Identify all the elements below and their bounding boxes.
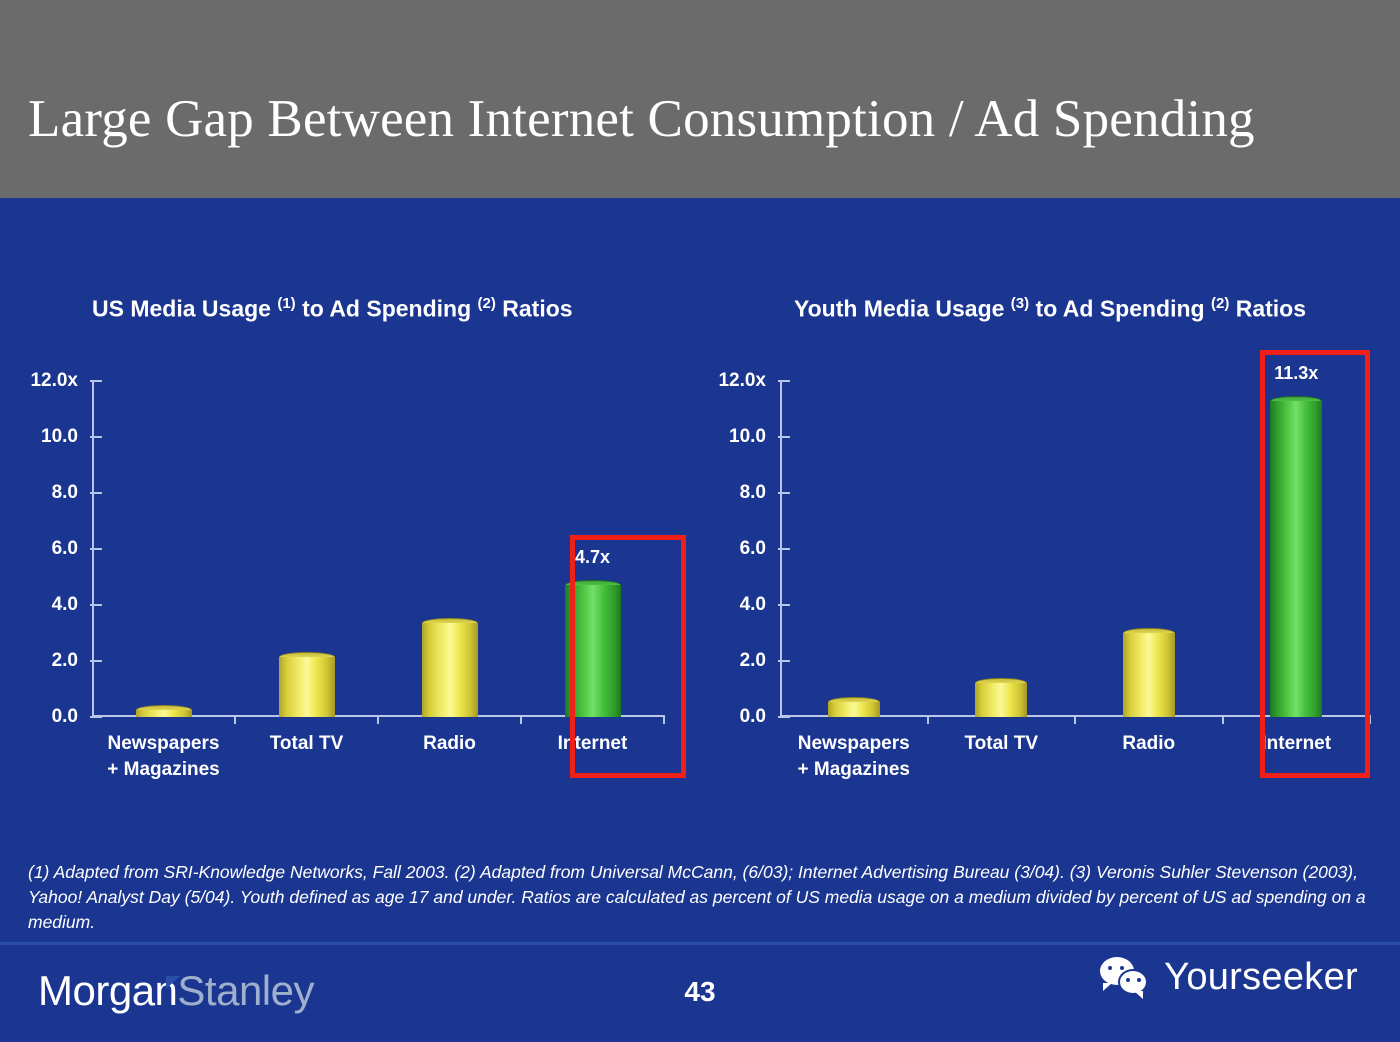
slide-body: US Media Usage (1) to Ad Spending (2) Ra… — [0, 198, 1400, 1042]
y-axis-tick — [778, 604, 790, 606]
slide-header: Large Gap Between Internet Consumption /… — [0, 0, 1400, 198]
chart-title-left: US Media Usage (1) to Ad Spending (2) Ra… — [92, 286, 672, 327]
slide: Large Gap Between Internet Consumption /… — [0, 0, 1400, 1042]
x-axis-category-label: Newspapers+ Magazines — [107, 731, 219, 783]
bar-radio — [422, 618, 478, 717]
bar-newspapers-magazines — [136, 705, 192, 717]
highlight-box-left — [570, 535, 686, 778]
y-axis-label: 6.0 — [52, 538, 78, 560]
chart-title-right-c: Ratios — [1229, 296, 1306, 322]
x-axis-tick — [520, 715, 522, 724]
footnote: (1) Adapted from SRI-Knowledge Networks,… — [28, 860, 1376, 935]
brand-name: Yourseeker — [1164, 956, 1358, 999]
y-axis-label: 8.0 — [740, 482, 766, 504]
highlight-box-right — [1260, 350, 1370, 778]
chart-title-right-sup2: (2) — [1211, 295, 1229, 312]
y-axis-label: 4.0 — [740, 594, 766, 616]
y-axis-tick — [90, 380, 102, 382]
y-axis-tick — [90, 548, 102, 550]
page-title: Large Gap Between Internet Consumption /… — [28, 88, 1255, 150]
slide-footer: MorganStanley 43 Yourseeker — [0, 948, 1400, 1042]
y-axis-label: 8.0 — [52, 482, 78, 504]
brand-yourseeker: Yourseeker — [1100, 956, 1358, 999]
chart-title-left-a: US Media Usage — [92, 296, 277, 322]
x-axis-tick — [1074, 715, 1076, 724]
y-axis-tick — [778, 660, 790, 662]
y-axis-label: 0.0 — [52, 706, 78, 728]
y-axis-label: 10.0 — [729, 426, 766, 448]
x-axis-tick — [377, 715, 379, 724]
y-axis-tick — [90, 660, 102, 662]
chart-title-left-c: Ratios — [496, 296, 573, 322]
x-axis-tick — [1222, 715, 1224, 724]
chart-title-left-b: to Ad Spending — [296, 296, 478, 322]
y-axis-label: 12.0x — [30, 370, 78, 392]
y-axis-label: 0.0 — [740, 706, 766, 728]
y-axis-label: 2.0 — [740, 650, 766, 672]
chart-title-right-sup1: (3) — [1011, 295, 1029, 312]
chart-title-right: Youth Media Usage (3) to Ad Spending (2)… — [740, 286, 1360, 327]
y-axis-tick — [778, 548, 790, 550]
x-axis-category-label: Total TV — [964, 731, 1038, 757]
x-axis-category-label: Newspapers+ Magazines — [798, 731, 910, 783]
chart-title-left-sup2: (2) — [478, 295, 496, 312]
y-axis-tick — [778, 492, 790, 494]
x-axis-tick — [927, 715, 929, 724]
y-axis-tick — [90, 492, 102, 494]
x-axis-tick — [234, 715, 236, 724]
y-axis-label: 12.0x — [718, 370, 766, 392]
y-axis-label: 4.0 — [52, 594, 78, 616]
y-axis-tick — [778, 380, 790, 382]
chart-us-media-usage: US Media Usage (1) to Ad Spending (2) Ra… — [0, 198, 700, 818]
chart-title-left-sup1: (1) — [277, 295, 295, 312]
y-axis-label: 2.0 — [52, 650, 78, 672]
x-axis-category-label: Radio — [1122, 731, 1175, 757]
bar-radio — [1123, 628, 1175, 717]
y-axis-label: 10.0 — [41, 426, 78, 448]
bar-newspapers-magazines — [828, 697, 880, 717]
y-axis-tick — [778, 716, 790, 718]
bar-total-tv — [279, 652, 335, 717]
wechat-icon — [1100, 957, 1152, 999]
y-axis-tick — [90, 716, 102, 718]
y-axis-label: 6.0 — [740, 538, 766, 560]
chart-title-right-a: Youth Media Usage — [794, 296, 1011, 322]
y-axis-tick — [90, 604, 102, 606]
bar-total-tv — [975, 678, 1027, 717]
y-axis-tick — [90, 436, 102, 438]
chart-title-right-b: to Ad Spending — [1029, 296, 1211, 322]
x-axis-category-label: Radio — [423, 731, 476, 757]
footer-divider — [0, 942, 1400, 945]
y-axis-tick — [778, 436, 790, 438]
chart-youth-media-usage: Youth Media Usage (3) to Ad Spending (2)… — [700, 198, 1400, 818]
x-axis-category-label: Total TV — [270, 731, 344, 757]
